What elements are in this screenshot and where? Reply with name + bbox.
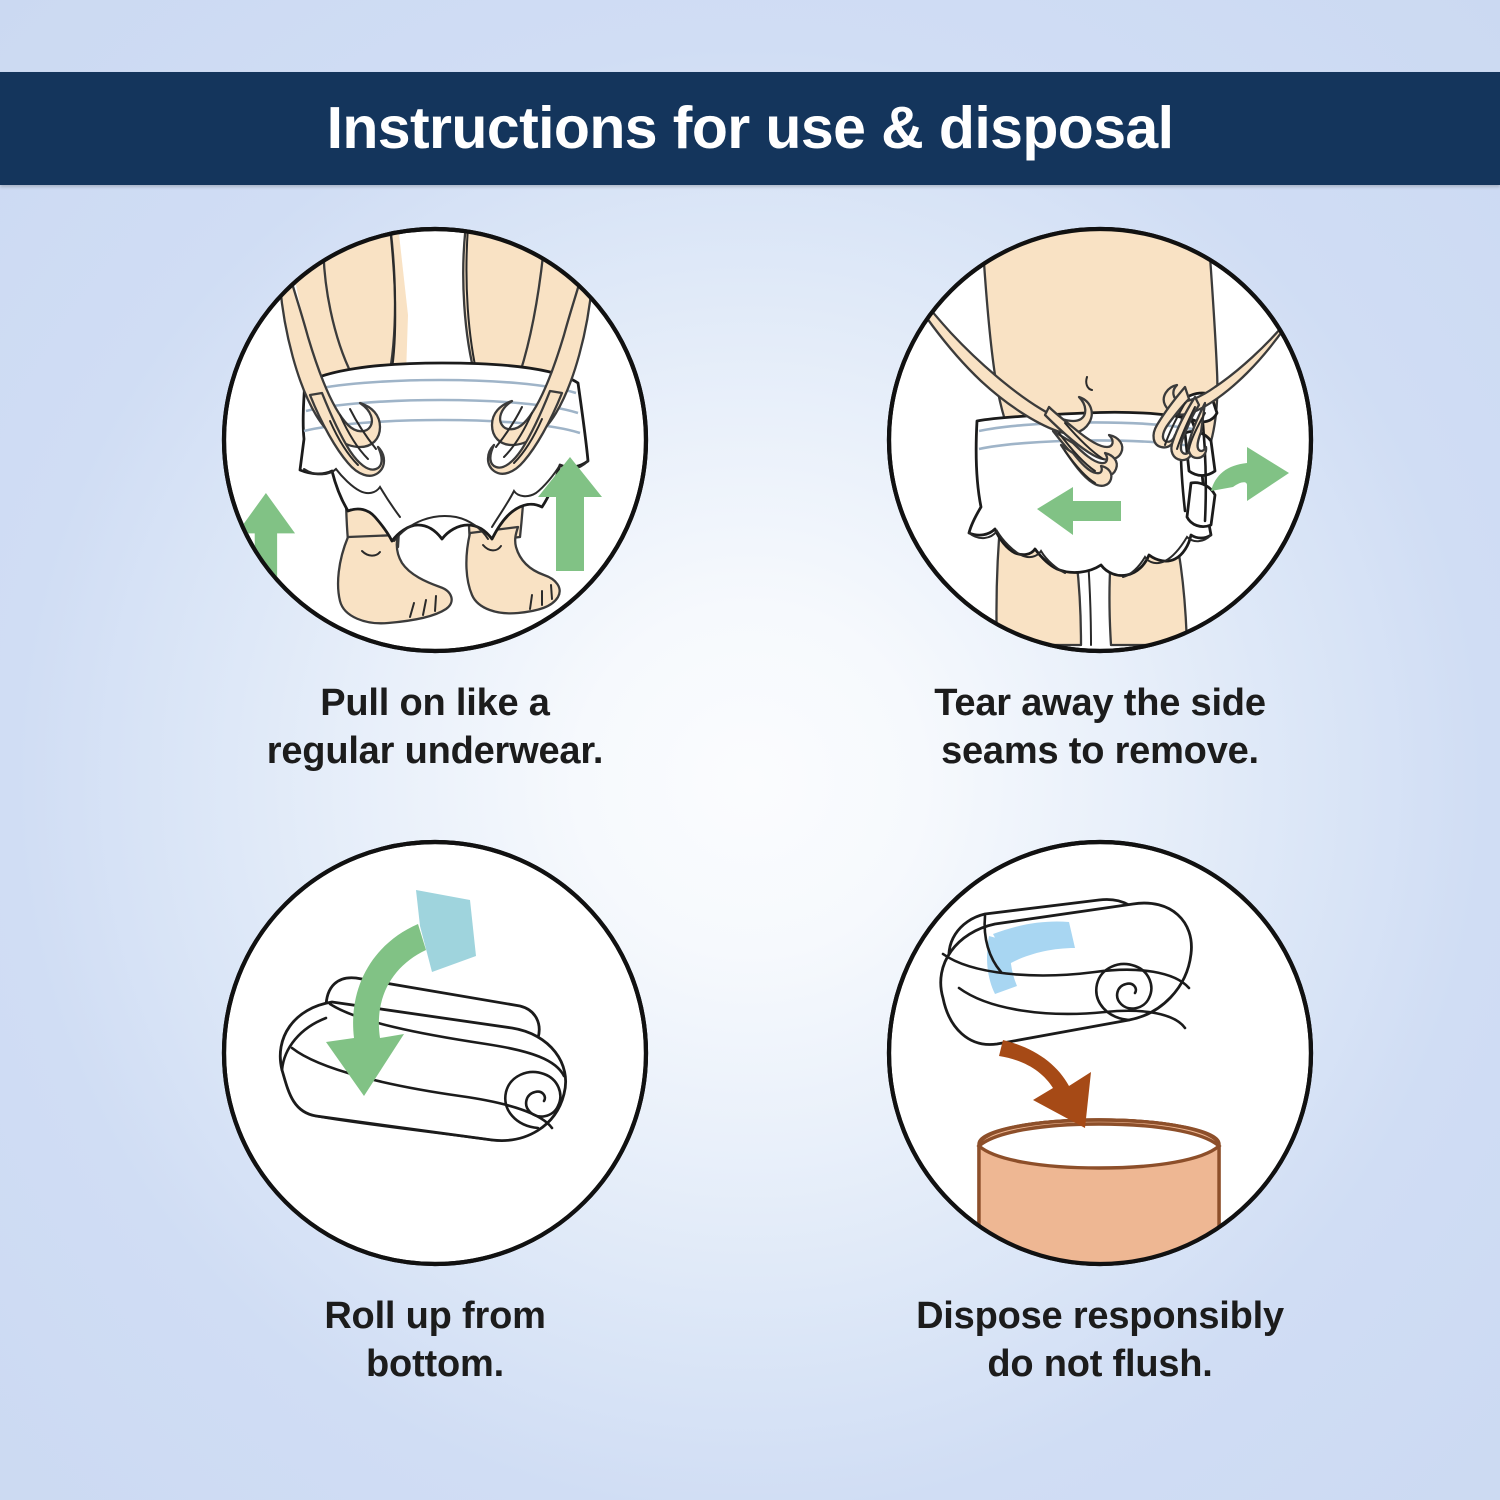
step-panel-2: Tear away the side seams to remove. [825,225,1375,825]
step-panel-1: Pull on like a regular underwear. [160,225,710,825]
pull-on-underwear-illustration [220,225,650,655]
step-panel-3: Roll up from bottom. [160,838,710,1458]
caption-line: regular underwear. [160,728,710,776]
step-caption-2: Tear away the side seams to remove. [825,680,1375,776]
caption-line: Roll up from [160,1293,710,1341]
dispose-in-bin-illustration [885,838,1315,1268]
caption-line: Tear away the side [825,680,1375,728]
page-title: Instructions for use & disposal [327,99,1174,158]
caption-line: Dispose responsibly [825,1293,1375,1341]
step-caption-1: Pull on like a regular underwear. [160,680,710,776]
instruction-graphic-page: Instructions for use & disposal [0,0,1500,1500]
caption-line: seams to remove. [825,728,1375,776]
step-caption-3: Roll up from bottom. [160,1293,710,1389]
caption-line: Pull on like a [160,680,710,728]
tear-side-seams-illustration [885,225,1315,655]
step-caption-4: Dispose responsibly do not flush. [825,1293,1375,1389]
header-bar: Instructions for use & disposal [0,72,1500,185]
caption-line: bottom. [160,1341,710,1389]
step-panel-4: Dispose responsibly do not flush. [825,838,1375,1458]
caption-line: do not flush. [825,1341,1375,1389]
roll-up-illustration [220,838,650,1268]
